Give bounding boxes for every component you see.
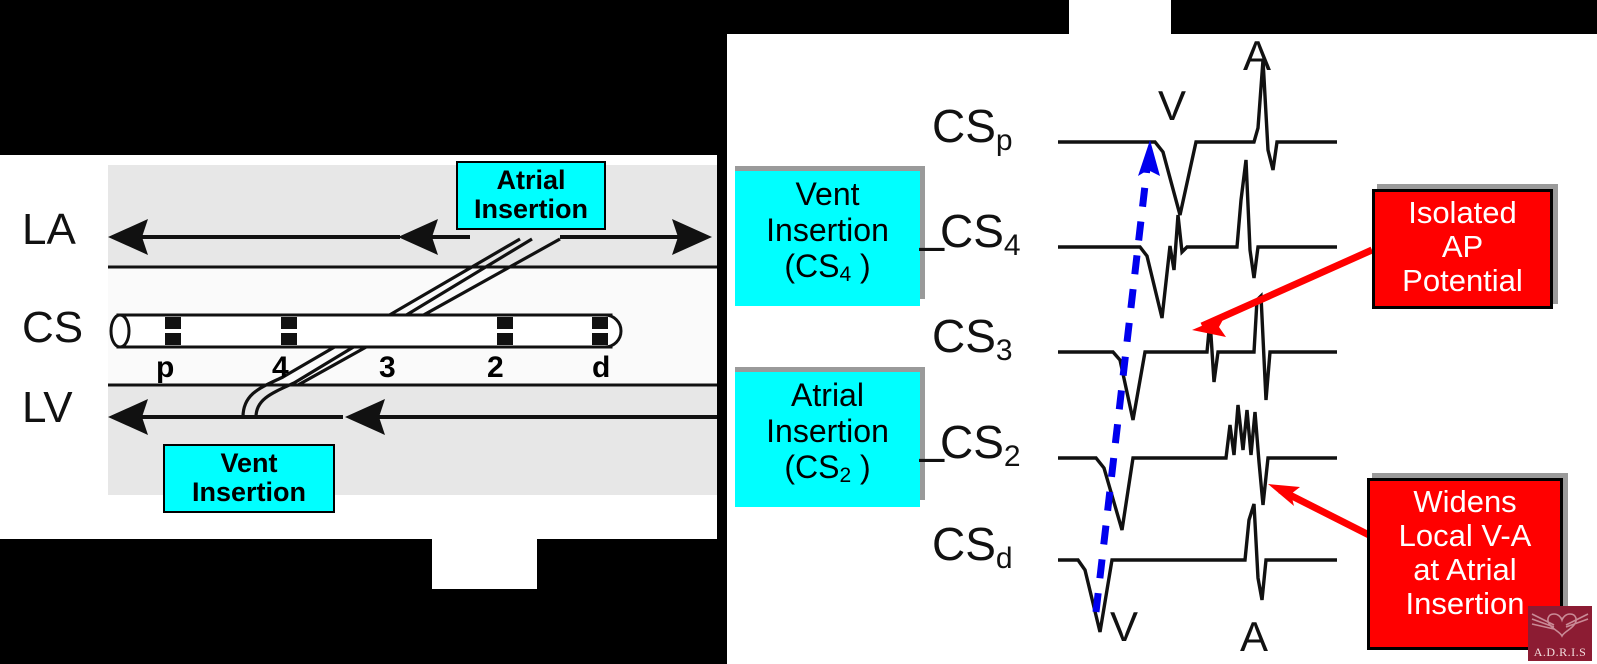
channel-label-cs4-sub: 4 <box>1004 229 1021 262</box>
box-vent-insertion-cs4: Vent Insertion (CS4 ) <box>735 171 920 306</box>
annotation-widens-line3: at Atrial <box>1370 553 1560 587</box>
box-atrial-insertion-line3-prefix: (CS <box>784 449 839 485</box>
bottom-white-notch <box>432 537 537 589</box>
channel-label-csp-sub: p <box>996 124 1013 157</box>
channel-label-cs4: CS4 <box>940 204 1021 263</box>
callout-vent-insertion-line2: Insertion <box>172 478 326 507</box>
box-atrial-insertion-line3-sub: 2 <box>839 464 851 487</box>
channel-label-csd-sub: d <box>996 542 1013 575</box>
anatomy-diagram: LA CS LV p 4 3 2 d <box>0 155 717 539</box>
annotation-isolated-ap-potential: Isolated AP Potential <box>1372 189 1553 309</box>
box-vent-insertion-line2: Insertion <box>735 213 920 249</box>
box-atrial-insertion-line3: (CS2 ) <box>735 450 920 488</box>
channel-label-cs3-sub: 3 <box>996 334 1013 367</box>
box-vent-insertion-line3-prefix: (CS <box>784 248 839 284</box>
annotation-widens-line1: Widens <box>1370 485 1560 519</box>
box-vent-insertion-line3-sub: 4 <box>839 263 851 286</box>
channel-label-cs4-prefix: CS <box>940 205 1004 257</box>
top-white-notch <box>1069 0 1171 36</box>
box-atrial-insertion-cs2: Atrial Insertion (CS2 ) <box>735 372 920 507</box>
wave-marker-v-top: V <box>1158 82 1186 130</box>
wave-marker-a-bottom: A <box>1240 613 1268 661</box>
channel-label-cs2: CS2 <box>940 415 1021 474</box>
adris-watermark-logo: A.D.R.I.S <box>1528 606 1592 661</box>
electrode-label-3: 3 <box>379 351 396 385</box>
left-atrium-label: LA <box>22 205 76 255</box>
channel-label-cs3: CS3 <box>932 309 1013 368</box>
channel-label-cs2-prefix: CS <box>940 416 1004 468</box>
box-atrial-insertion-line2: Insertion <box>735 414 920 450</box>
annotation-isolated-line1: Isolated <box>1375 196 1550 230</box>
channel-label-cs3-prefix: CS <box>932 310 996 362</box>
channel-label-csd-prefix: CS <box>932 518 996 570</box>
callout-vent-insertion: Vent Insertion <box>163 444 335 513</box>
box-vent-insertion-line1: Vent <box>735 177 920 213</box>
box-atrial-insertion-line1: Atrial <box>735 378 920 414</box>
electrode-label-2: 2 <box>487 351 504 385</box>
wave-marker-v-bottom: V <box>1110 603 1138 651</box>
channel-label-cs2-sub: 2 <box>1004 440 1021 473</box>
left-ventricle-label: LV <box>22 383 73 433</box>
coronary-sinus-label: CS <box>22 303 83 353</box>
channel-label-csp-prefix: CS <box>932 100 996 152</box>
electrode-label-d: d <box>592 351 610 385</box>
annotation-isolated-line3: Potential <box>1375 264 1550 298</box>
callout-atrial-insertion: Atrial Insertion <box>456 161 606 230</box>
adris-watermark-text: A.D.R.I.S <box>1528 645 1592 660</box>
wave-marker-a-top: A <box>1243 32 1271 80</box>
annotation-widens-line2: Local V-A <box>1370 519 1560 553</box>
callout-atrial-insertion-line2: Insertion <box>465 195 597 224</box>
box-vent-insertion-line3-suffix: ) <box>851 248 871 284</box>
channel-label-csp: CSp <box>932 99 1013 158</box>
callout-vent-insertion-line1: Vent <box>172 449 326 478</box>
adris-heart-icon <box>1528 606 1592 650</box>
box-atrial-insertion-line3-suffix: ) <box>851 449 871 485</box>
figure-stage: LA CS LV p 4 3 2 d Atrial Insertion Vent… <box>0 0 1597 664</box>
annotation-isolated-line2: AP <box>1375 230 1550 264</box>
callout-atrial-insertion-line1: Atrial <box>465 166 597 195</box>
channel-label-csd: CSd <box>932 517 1013 576</box>
box-vent-insertion-line3: (CS4 ) <box>735 249 920 287</box>
electrode-label-p: p <box>156 351 174 385</box>
electrode-label-4: 4 <box>272 351 289 385</box>
